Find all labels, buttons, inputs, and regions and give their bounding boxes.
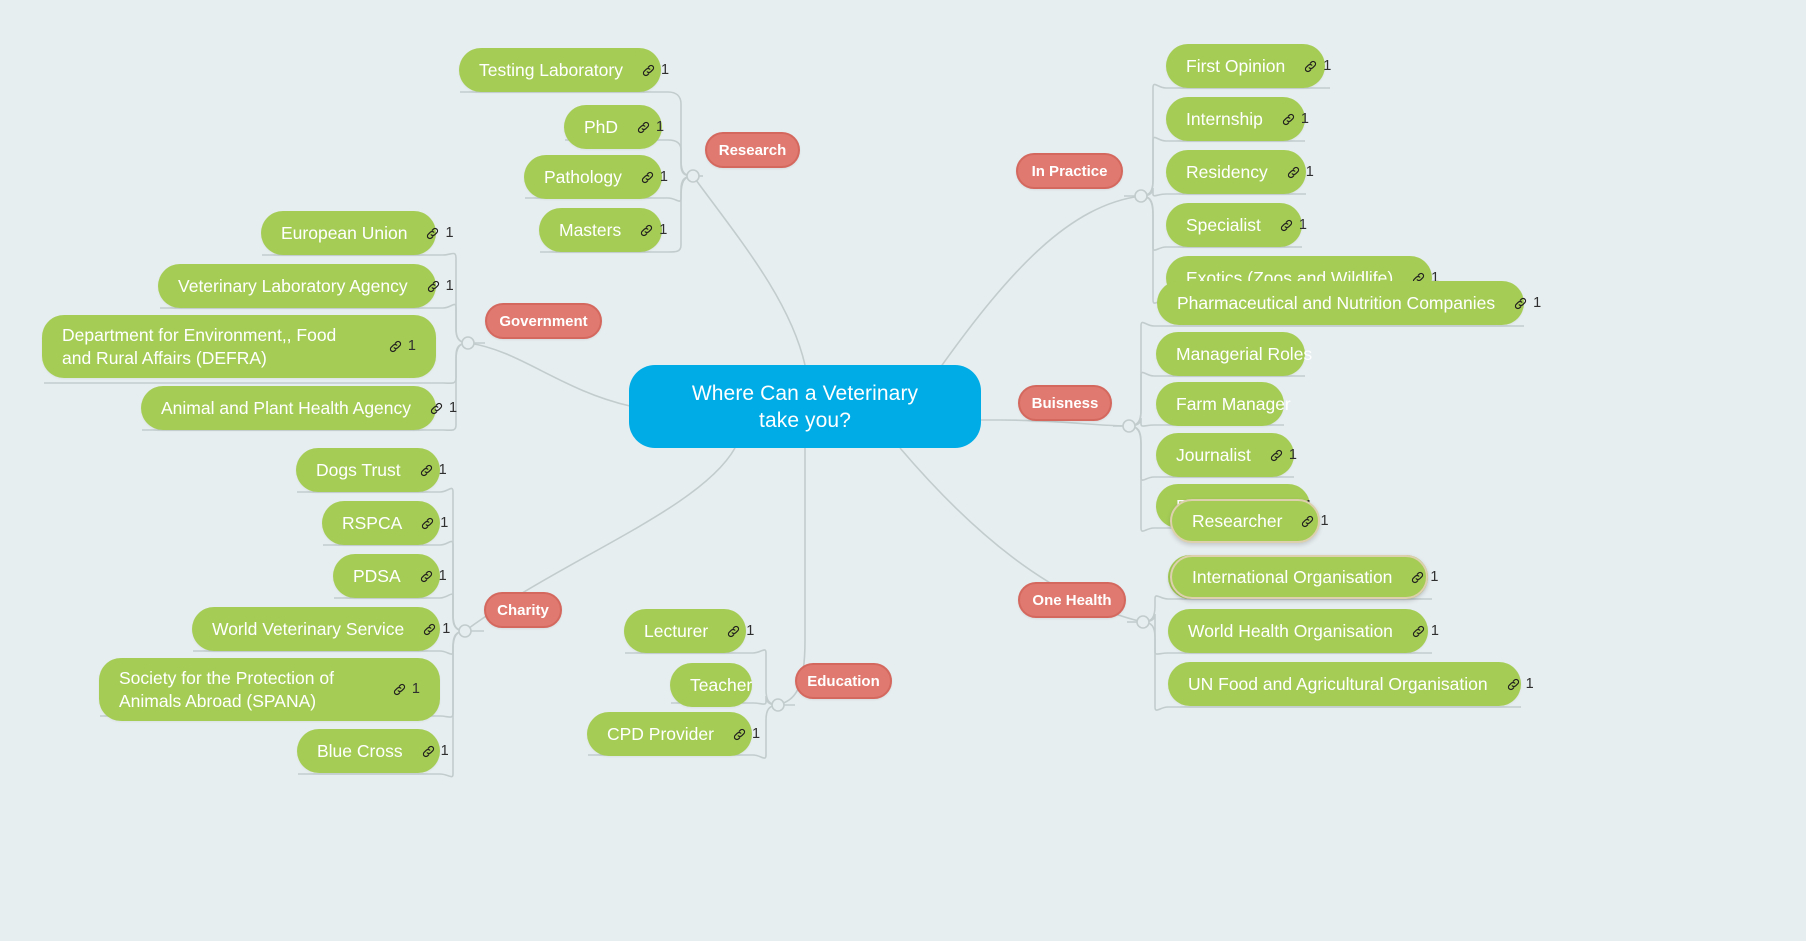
link-count: 1 xyxy=(1320,514,1328,529)
link-icon xyxy=(636,120,651,135)
leaf-label: Pathology xyxy=(544,167,622,188)
link-icon xyxy=(420,516,435,531)
link-count: 1 xyxy=(659,223,667,238)
dragged-node-international-organisation[interactable]: International Organisation 1 xyxy=(1170,555,1428,599)
leaf-rspca[interactable]: RSPCA 1 xyxy=(322,501,440,545)
leaf-animal-and-plant-health-agency[interactable]: Animal and Plant Health Agency 1 xyxy=(141,386,436,430)
link-count: 1 xyxy=(752,727,760,742)
leaf-label: Masters xyxy=(559,220,621,241)
leaf-label: Department for Environment,, Food and Ru… xyxy=(62,324,370,370)
link-icon xyxy=(1281,112,1296,127)
branch-in-practice[interactable]: In Practice xyxy=(1016,153,1123,189)
link-count: 1 xyxy=(1289,448,1297,463)
leaf-meta: 1 xyxy=(1513,296,1541,311)
leaf-meta: 1 xyxy=(1411,624,1439,639)
branch-research[interactable]: Research xyxy=(705,132,800,168)
leaf-meta: 1 xyxy=(1269,448,1297,463)
branch-government[interactable]: Government xyxy=(485,303,602,339)
leaf-dogs-trust[interactable]: Dogs Trust 1 xyxy=(296,448,440,492)
leaf-label: Blue Cross xyxy=(317,741,403,762)
link-icon xyxy=(726,624,741,639)
link-count: 1 xyxy=(439,569,447,584)
leaf-meta: 1 xyxy=(388,339,416,354)
link-icon xyxy=(1303,59,1318,74)
leaf-pathology[interactable]: Pathology 1 xyxy=(524,155,662,199)
leaf-label: Internship xyxy=(1186,109,1263,130)
link-icon xyxy=(1513,296,1528,311)
branch-one-health[interactable]: One Health xyxy=(1018,582,1126,618)
leaf-label: European Union xyxy=(281,223,407,244)
leaf-lecturer[interactable]: Lecturer 1 xyxy=(624,609,746,653)
leaf-label: First Opinion xyxy=(1186,56,1285,77)
link-count: 1 xyxy=(660,170,668,185)
leaf-meta: 1 xyxy=(1281,112,1309,127)
dragged-node-researcher[interactable]: Researcher 1 xyxy=(1170,499,1320,543)
leaf-pharmaceutical-and-nutrition-companies[interactable]: Pharmaceutical and Nutrition Companies 1 xyxy=(1157,281,1524,325)
link-count: 1 xyxy=(440,516,448,531)
leaf-meta: 1 xyxy=(419,569,447,584)
leaf-meta: 1 xyxy=(641,63,669,78)
root-node[interactable]: Where Can a Veterinary take you? xyxy=(629,365,981,448)
link-count: 1 xyxy=(408,339,416,354)
leaf-label: World Health Organisation xyxy=(1188,621,1393,642)
leaf-journalist[interactable]: Journalist 1 xyxy=(1156,433,1294,477)
link-icon xyxy=(422,622,437,637)
leaf-european-union[interactable]: European Union 1 xyxy=(261,211,436,255)
link-icon xyxy=(429,401,444,416)
link-count: 1 xyxy=(412,682,420,697)
branch-charity[interactable]: Charity xyxy=(484,592,562,628)
leaf-un-food-and-agricultural-organisation[interactable]: UN Food and Agricultural Organisation 1 xyxy=(1168,662,1521,706)
leaf-meta: 1 xyxy=(422,622,450,637)
leaf-testing-laboratory[interactable]: Testing Laboratory 1 xyxy=(459,48,661,92)
leaf-label: Veterinary Laboratory Agency xyxy=(178,276,408,297)
leaf-meta: 1 xyxy=(425,226,453,241)
leaf-meta: 1 xyxy=(1303,59,1331,74)
link-count: 1 xyxy=(441,744,449,759)
link-icon xyxy=(640,170,655,185)
branch-buisness[interactable]: Buisness xyxy=(1018,385,1112,421)
leaf-masters[interactable]: Masters 1 xyxy=(539,208,662,252)
leaf-teacher[interactable]: Teacher xyxy=(670,663,752,707)
leaf-cpd-provider[interactable]: CPD Provider 1 xyxy=(587,712,752,756)
branch-label: Government xyxy=(499,313,587,330)
branch-label: Charity xyxy=(497,602,549,619)
link-count: 1 xyxy=(1533,296,1541,311)
leaf-meta: 1 xyxy=(419,463,447,478)
leaf-label: Journalist xyxy=(1176,445,1251,466)
link-icon xyxy=(388,339,403,354)
leaf-farm-manager[interactable]: Farm Manager xyxy=(1156,382,1284,426)
branch-label: Research xyxy=(719,142,787,159)
leaf-blue-cross[interactable]: Blue Cross 1 xyxy=(297,729,440,773)
branch-label: Education xyxy=(807,673,880,690)
link-icon xyxy=(639,223,654,238)
leaf-meta: 1 xyxy=(1300,514,1328,529)
branch-label: Buisness xyxy=(1032,395,1099,412)
leaf-pdsa[interactable]: PDSA 1 xyxy=(333,554,440,598)
leaf-meta: 1 xyxy=(1506,677,1534,692)
link-count: 1 xyxy=(439,463,447,478)
branch-education[interactable]: Education xyxy=(795,663,892,699)
link-icon xyxy=(1410,570,1425,585)
leaf-phd[interactable]: PhD 1 xyxy=(564,105,662,149)
leaf-label: International Organisation xyxy=(1192,567,1392,588)
link-count: 1 xyxy=(1306,165,1314,180)
link-count: 1 xyxy=(1526,677,1534,692)
leaf-spana[interactable]: Society for the Protection of Animals Ab… xyxy=(99,658,440,721)
leaf-meta: 1 xyxy=(636,120,664,135)
link-icon xyxy=(426,279,441,294)
leaf-veterinary-laboratory-agency[interactable]: Veterinary Laboratory Agency 1 xyxy=(158,264,436,308)
connector-lines xyxy=(0,0,1806,941)
branch-label: In Practice xyxy=(1032,163,1108,180)
leaf-meta: 1 xyxy=(421,744,449,759)
link-icon xyxy=(641,63,656,78)
link-count: 1 xyxy=(1431,624,1439,639)
leaf-meta: 1 xyxy=(726,624,754,639)
root-title-line1: Where Can a Veterinary xyxy=(692,380,918,407)
leaf-meta: 1 xyxy=(429,401,457,416)
leaf-managerial-roles[interactable]: Managerial Roles xyxy=(1156,332,1305,376)
link-icon xyxy=(1300,514,1315,529)
leaf-label: PDSA xyxy=(353,566,401,587)
leaf-label: Specialist xyxy=(1186,215,1261,236)
leaf-label: Managerial Roles xyxy=(1176,344,1312,365)
leaf-world-veterinary-service[interactable]: World Veterinary Service 1 xyxy=(192,607,440,651)
leaf-residency[interactable]: Residency 1 xyxy=(1166,150,1306,194)
leaf-label: Testing Laboratory xyxy=(479,60,623,81)
leaf-meta: 1 xyxy=(732,727,760,742)
link-count: 1 xyxy=(445,226,453,241)
link-icon xyxy=(1269,448,1284,463)
leaf-label: Lecturer xyxy=(644,621,708,642)
leaf-label: CPD Provider xyxy=(607,724,714,745)
link-icon xyxy=(1286,165,1301,180)
link-count: 1 xyxy=(746,624,754,639)
link-icon xyxy=(419,463,434,478)
link-icon xyxy=(421,744,436,759)
leaf-world-health-organisation[interactable]: World Health Organisation 1 xyxy=(1168,609,1428,653)
link-count: 1 xyxy=(656,120,664,135)
leaf-label: Teacher xyxy=(690,675,752,696)
link-count: 1 xyxy=(449,401,457,416)
leaf-meta: 1 xyxy=(426,279,454,294)
link-count: 1 xyxy=(442,622,450,637)
link-icon xyxy=(1279,218,1294,233)
leaf-meta: 1 xyxy=(420,516,448,531)
link-count: 1 xyxy=(1323,59,1331,74)
root-title-line2: take you? xyxy=(692,407,918,434)
leaf-meta: 1 xyxy=(640,170,668,185)
link-icon xyxy=(419,569,434,584)
leaf-meta: 1 xyxy=(1410,570,1438,585)
leaf-meta: 1 xyxy=(1279,218,1307,233)
mindmap-canvas[interactable]: Where Can a Veterinary take you? Researc… xyxy=(0,0,1806,941)
leaf-label: Society for the Protection of Animals Ab… xyxy=(119,667,374,713)
leaf-label: PhD xyxy=(584,117,618,138)
link-icon xyxy=(1506,677,1521,692)
link-count: 1 xyxy=(1299,218,1307,233)
leaf-label: RSPCA xyxy=(342,513,402,534)
leaf-meta: 1 xyxy=(392,682,420,697)
leaf-internship[interactable]: Internship 1 xyxy=(1166,97,1305,141)
leaf-label: UN Food and Agricultural Organisation xyxy=(1188,674,1488,695)
leaf-specialist[interactable]: Specialist 1 xyxy=(1166,203,1302,247)
leaf-label: Farm Manager xyxy=(1176,394,1291,415)
link-count: 1 xyxy=(446,279,454,294)
leaf-label: Researcher xyxy=(1192,511,1282,532)
branch-label: One Health xyxy=(1032,592,1111,609)
leaf-meta: 1 xyxy=(1286,165,1314,180)
leaf-label: Dogs Trust xyxy=(316,460,401,481)
link-icon xyxy=(732,727,747,742)
leaf-label: Animal and Plant Health Agency xyxy=(161,398,411,419)
leaf-label: Residency xyxy=(1186,162,1268,183)
link-icon xyxy=(392,682,407,697)
leaf-defra[interactable]: Department for Environment,, Food and Ru… xyxy=(42,315,436,378)
leaf-first-opinion[interactable]: First Opinion 1 xyxy=(1166,44,1325,88)
link-icon xyxy=(1411,624,1426,639)
leaf-label: World Veterinary Service xyxy=(212,619,404,640)
link-count: 1 xyxy=(1301,112,1309,127)
leaf-meta: 1 xyxy=(639,223,667,238)
link-count: 1 xyxy=(1430,570,1438,585)
link-count: 1 xyxy=(661,63,669,78)
leaf-label: Pharmaceutical and Nutrition Companies xyxy=(1177,293,1495,314)
link-icon xyxy=(425,226,440,241)
